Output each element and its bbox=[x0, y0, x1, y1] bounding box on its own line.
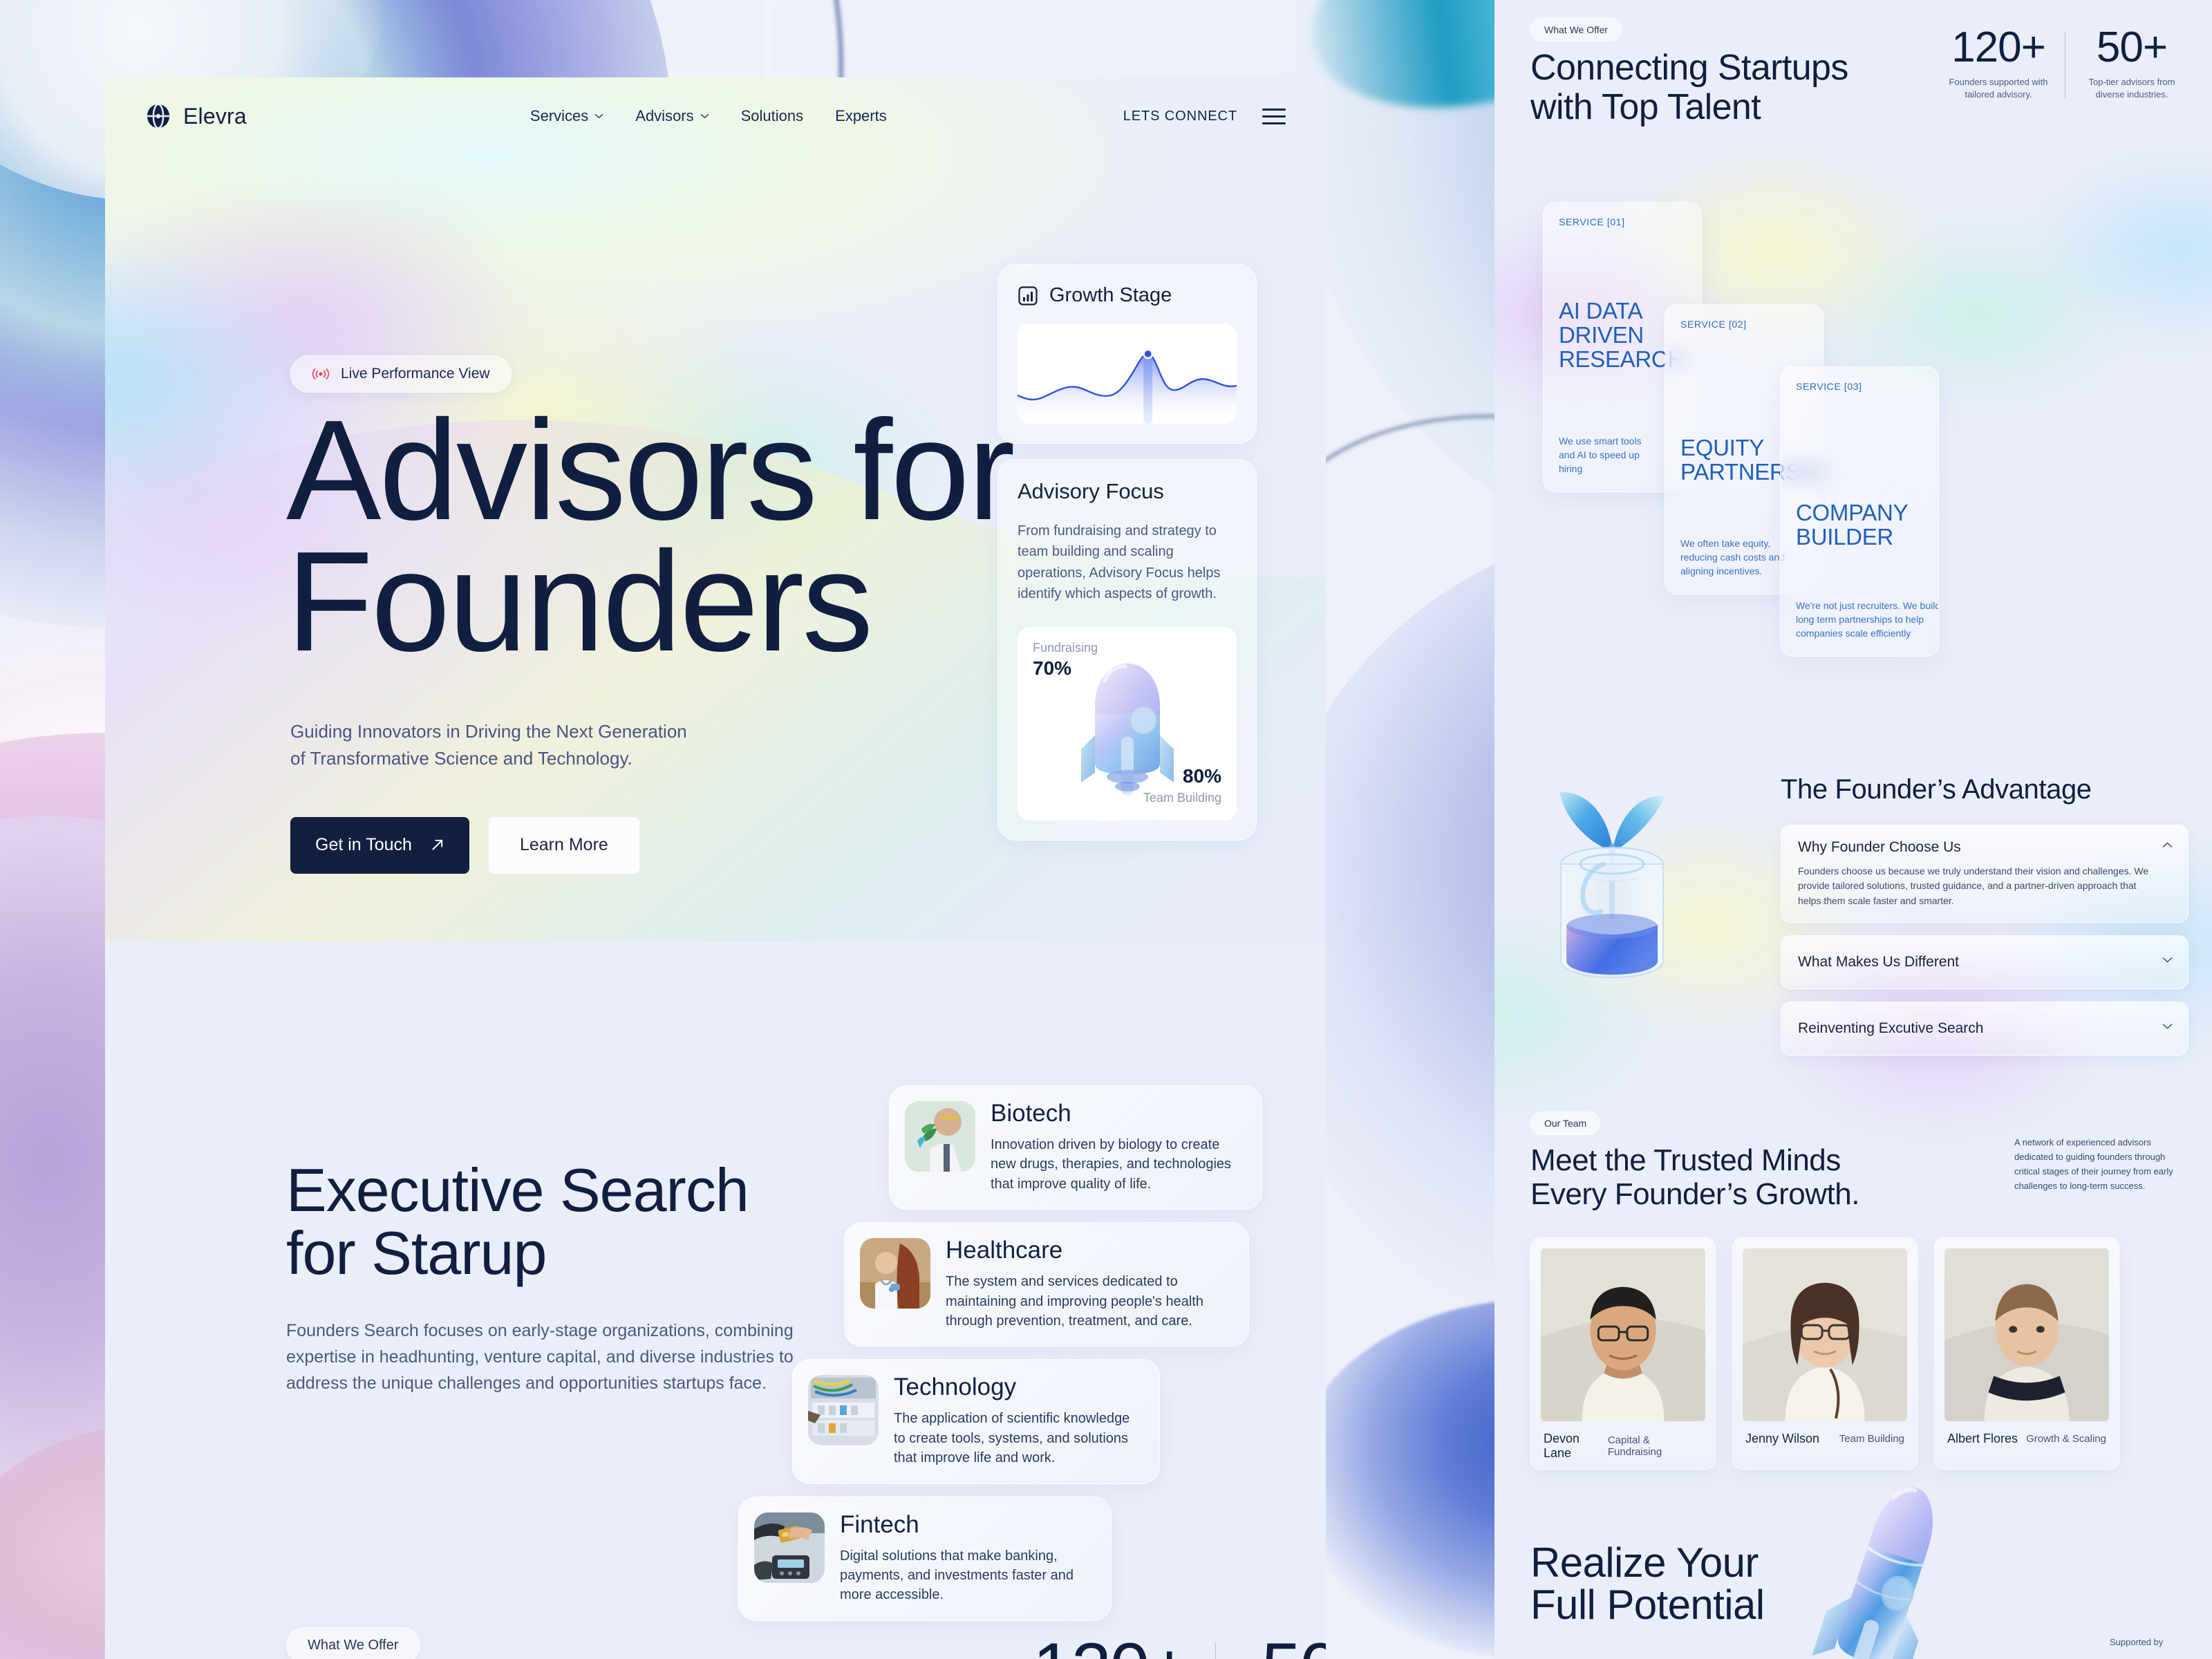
live-broadcast-icon bbox=[312, 368, 330, 380]
growth-stage-title: Growth Stage bbox=[1049, 284, 1172, 307]
nav-link-solutions[interactable]: Solutions bbox=[741, 107, 804, 125]
growth-stage-card[interactable]: Growth Stage bbox=[997, 264, 1257, 444]
button-label: Get in Touch bbox=[315, 835, 412, 855]
chevron-down-icon bbox=[594, 113, 603, 119]
industry-card-fintech[interactable]: Fintech Digital solutions that make bank… bbox=[738, 1497, 1112, 1621]
accordion-item-reinventing-executive-search[interactable]: Reinventing Excutive Search bbox=[1781, 1002, 2188, 1056]
service-desc: We're not just recruiters. We build long… bbox=[1796, 599, 1939, 641]
badge-label: Live Performance View bbox=[341, 366, 490, 382]
button-label: Learn More bbox=[520, 835, 608, 855]
team-member-name: Jenny Wilson bbox=[1745, 1432, 1819, 1446]
industry-card-text: Technology The application of scientific… bbox=[894, 1375, 1144, 1468]
industry-name: Technology bbox=[894, 1375, 1144, 1399]
executive-search-section: Executive Search for Starup Founders Sea… bbox=[286, 1159, 812, 1396]
industry-desc: Digital solutions that make banking, pay… bbox=[840, 1546, 1096, 1605]
header-actions: LETS CONNECT bbox=[1123, 109, 1286, 124]
stat-label: Top-tier advisors from diverse industrie… bbox=[2077, 76, 2187, 101]
industry-desc: Innovation driven by biology to create n… bbox=[991, 1135, 1246, 1194]
team-member-name: Devon Lane bbox=[1544, 1432, 1608, 1461]
chevron-down-icon[interactable] bbox=[2162, 957, 2173, 963]
services-card-stack: SERVICE [01] AI DATA DRIVEN RESEARCH We … bbox=[1494, 194, 2212, 719]
executive-search-body: Founders Search focuses on early-stage o… bbox=[286, 1318, 812, 1396]
glass-rocket-illustration bbox=[1062, 653, 1193, 805]
nav-link-services[interactable]: Services bbox=[530, 107, 603, 125]
hamburger-menu-icon[interactable] bbox=[1262, 109, 1286, 124]
brand-logo[interactable]: Elevra bbox=[145, 103, 247, 129]
accordion-question: Reinventing Excutive Search bbox=[1798, 1020, 2171, 1037]
team-member-card-devon-lane[interactable]: Devon Lane Capital & Fundraising bbox=[1530, 1237, 1716, 1470]
scientist-with-plant-photo bbox=[905, 1101, 975, 1172]
industry-card-healthcare[interactable]: Healthcare The system and services dedic… bbox=[844, 1222, 1249, 1347]
globe-logo-icon bbox=[145, 103, 171, 129]
stat-value: 50+ bbox=[1234, 1633, 1326, 1659]
cta-title: Realize Your Full Potential bbox=[1530, 1541, 1764, 1626]
team-section: Our Team Meet the Trusted Minds Every Fo… bbox=[1530, 1112, 2187, 1212]
glass-sprout-illustration bbox=[1535, 760, 1694, 995]
team-member-meta: Jenny Wilson Team Building bbox=[1743, 1432, 1907, 1446]
accordion-question: What Makes Us Different bbox=[1798, 954, 2171, 971]
industry-desc: The system and services dedicated to mai… bbox=[946, 1272, 1233, 1331]
growth-sparkline-chart bbox=[1018, 324, 1237, 424]
offer-stats-left: 120+ Founders supported with tailored ad… bbox=[1024, 1633, 1326, 1659]
stat-label: Founders supported with tailored advisor… bbox=[1943, 76, 2054, 101]
stat-value: 50+ bbox=[2077, 26, 2187, 69]
service-desc: We use smart tools and AI to speed up hi… bbox=[1559, 435, 1660, 476]
stat-divider bbox=[1215, 1642, 1216, 1659]
advisory-focus-title: Advisory Focus bbox=[1018, 479, 1237, 504]
executive-search-title: Executive Search for Starup bbox=[286, 1159, 812, 1284]
team-building-value: 80% bbox=[1183, 765, 1221, 787]
brand-name: Elevra bbox=[183, 104, 247, 129]
hero-side-cards: Growth Stage bbox=[997, 264, 1257, 841]
our-team-tag: Our Team bbox=[1530, 1112, 1600, 1135]
chevron-down-icon bbox=[700, 113, 709, 119]
nav-link-label: Services bbox=[530, 107, 588, 125]
service-number: SERVICE [03] bbox=[1796, 381, 1923, 392]
industry-name: Healthcare bbox=[946, 1238, 1233, 1262]
industry-card-list: Biotech Innovation driven by biology to … bbox=[738, 1085, 1264, 1621]
industry-desc: The application of scientific knowledge … bbox=[894, 1409, 1144, 1468]
what-we-offer-tag: What We Offer bbox=[1530, 18, 1622, 41]
industry-name: Biotech bbox=[991, 1101, 1246, 1125]
landing-page-continuation: What We Offer Connecting Startups with T… bbox=[1494, 0, 2212, 1659]
live-performance-badge[interactable]: Live Performance View bbox=[290, 355, 512, 393]
advisory-metrics-panel: Fundraising 70% bbox=[1018, 627, 1237, 821]
portrait-albert-flores bbox=[1944, 1248, 2109, 1422]
industry-card-text: Biotech Innovation driven by biology to … bbox=[991, 1101, 1246, 1194]
team-description: A network of experienced advisors dedica… bbox=[2014, 1135, 2187, 1193]
team-member-meta: Devon Lane Capital & Fundraising bbox=[1541, 1432, 1705, 1461]
advisory-focus-body: From fundraising and strategy to team bu… bbox=[1018, 521, 1237, 605]
chevron-down-icon[interactable] bbox=[2162, 1023, 2173, 1029]
founders-advantage-title: The Founder’s Advantage bbox=[1781, 774, 2188, 805]
team-member-card-albert-flores[interactable]: Albert Flores Growth & Scaling bbox=[1934, 1237, 2119, 1470]
network-cabinet-photo bbox=[808, 1375, 879, 1445]
industry-card-text: Healthcare The system and services dedic… bbox=[946, 1238, 1233, 1331]
stat-value: 120+ bbox=[1943, 26, 2054, 69]
accordion-answer: Founders choose us because we truly unde… bbox=[1798, 864, 2171, 908]
nav-link-label: Experts bbox=[835, 107, 887, 125]
learn-more-button[interactable]: Learn More bbox=[489, 817, 639, 874]
team-member-card-jenny-wilson[interactable]: Jenny Wilson Team Building bbox=[1732, 1237, 1918, 1470]
industry-card-technology[interactable]: Technology The application of scientific… bbox=[792, 1359, 1160, 1483]
site-header: Elevra Services Advisors Solutions Exper… bbox=[105, 77, 1326, 155]
landing-page-canvas: Elevra Services Advisors Solutions Exper… bbox=[105, 77, 1326, 1659]
team-member-role: Growth & Scaling bbox=[2026, 1433, 2106, 1445]
thumb-art bbox=[860, 1238, 930, 1309]
what-we-offer-section-left: What We Offer Connecting Startups bbox=[286, 1627, 787, 1659]
primary-navigation: Services Advisors Solutions Experts bbox=[530, 107, 887, 125]
team-member-role: Team Building bbox=[1839, 1433, 1904, 1445]
chevron-up-icon[interactable] bbox=[2162, 842, 2173, 848]
stat-advisors: 50+ Top-tier advisors from diverse indus… bbox=[1234, 1633, 1326, 1659]
stat-founders: 120+ Founders supported with tailored ad… bbox=[1024, 1633, 1197, 1659]
nurse-with-patient-photo bbox=[860, 1238, 930, 1309]
nav-link-advisors[interactable]: Advisors bbox=[635, 107, 709, 125]
service-card-03[interactable]: SERVICE [03] COMPANY BUILDER We're not j… bbox=[1780, 366, 1939, 657]
nav-link-experts[interactable]: Experts bbox=[835, 107, 887, 125]
card-payment-terminal-photo bbox=[754, 1512, 825, 1583]
stat-value: 120+ bbox=[1024, 1633, 1197, 1659]
service-title-line-1: COMPANY bbox=[1796, 501, 1939, 525]
what-we-offer-section: What We Offer Connecting Startups with T… bbox=[1530, 18, 2187, 127]
portrait-art bbox=[1944, 1248, 2109, 1422]
exec-title-line-1: Executive Search bbox=[286, 1159, 812, 1222]
portrait-devon-lane bbox=[1541, 1248, 1705, 1422]
offer-stats: 120+ Founders supported with tailored ad… bbox=[1943, 26, 2187, 101]
cta-section: Realize Your Full Potential bbox=[1530, 1541, 1764, 1626]
team-member-meta: Albert Flores Growth & Scaling bbox=[1944, 1432, 2109, 1446]
industry-name: Fintech bbox=[840, 1512, 1096, 1537]
nav-link-label: Solutions bbox=[741, 107, 804, 125]
bar-chart-icon bbox=[1018, 285, 1038, 306]
founders-advantage-section: The Founder’s Advantage Why Founder Choo… bbox=[1781, 774, 2188, 1056]
supported-by-label: Supported by bbox=[2110, 1637, 2163, 1647]
industry-card-text: Fintech Digital solutions that make bank… bbox=[840, 1512, 1096, 1605]
lets-connect-button[interactable]: LETS CONNECT bbox=[1123, 109, 1237, 124]
sparkline-svg bbox=[1018, 324, 1237, 424]
team-building-label: Team Building bbox=[1143, 791, 1221, 805]
arrow-up-right-icon bbox=[430, 838, 444, 852]
portrait-art bbox=[1541, 1248, 1705, 1422]
accordion-item-what-makes-us-different[interactable]: What Makes Us Different bbox=[1781, 935, 2188, 989]
stat-advisors: 50+ Top-tier advisors from diverse indus… bbox=[2077, 26, 2187, 101]
growth-stage-header: Growth Stage bbox=[1018, 284, 1237, 307]
accordion-question: Why Founder Choose Us bbox=[1798, 839, 2171, 856]
team-member-role: Capital & Fundraising bbox=[1608, 1434, 1703, 1458]
team-member-name: Albert Flores bbox=[1947, 1432, 2018, 1446]
exec-title-line-2: for Starup bbox=[286, 1222, 812, 1285]
portrait-jenny-wilson bbox=[1743, 1248, 1907, 1422]
cta-title-line-1: Realize Your bbox=[1530, 1541, 1764, 1584]
service-title-line-2: BUILDER bbox=[1796, 525, 1939, 550]
stat-divider bbox=[2065, 32, 2065, 98]
nav-link-label: Advisors bbox=[635, 107, 693, 125]
advisory-focus-card[interactable]: Advisory Focus From fundraising and stra… bbox=[997, 459, 1257, 841]
what-we-offer-tag: What We Offer bbox=[286, 1627, 420, 1659]
service-number: SERVICE [01] bbox=[1559, 216, 1686, 227]
team-member-list: Devon Lane Capital & Fundraising bbox=[1530, 1237, 2119, 1470]
accordion-item-why-founder-choose-us[interactable]: Why Founder Choose Us Founders choose us… bbox=[1781, 825, 2188, 923]
cta-title-line-2: Full Potential bbox=[1530, 1584, 1764, 1626]
service-title: COMPANY BUILDER bbox=[1796, 501, 1939, 550]
service-number: SERVICE [02] bbox=[1680, 319, 1808, 330]
thumb-art bbox=[808, 1375, 879, 1445]
thumb-art bbox=[905, 1101, 975, 1172]
get-in-touch-button[interactable]: Get in Touch bbox=[290, 817, 469, 874]
industry-card-biotech[interactable]: Biotech Innovation driven by biology to … bbox=[889, 1085, 1262, 1210]
glass-rocket-illustration bbox=[1792, 1486, 1971, 1659]
portrait-art bbox=[1743, 1248, 1907, 1422]
thumb-art bbox=[754, 1512, 825, 1583]
stat-founders: 120+ Founders supported with tailored ad… bbox=[1943, 26, 2054, 101]
